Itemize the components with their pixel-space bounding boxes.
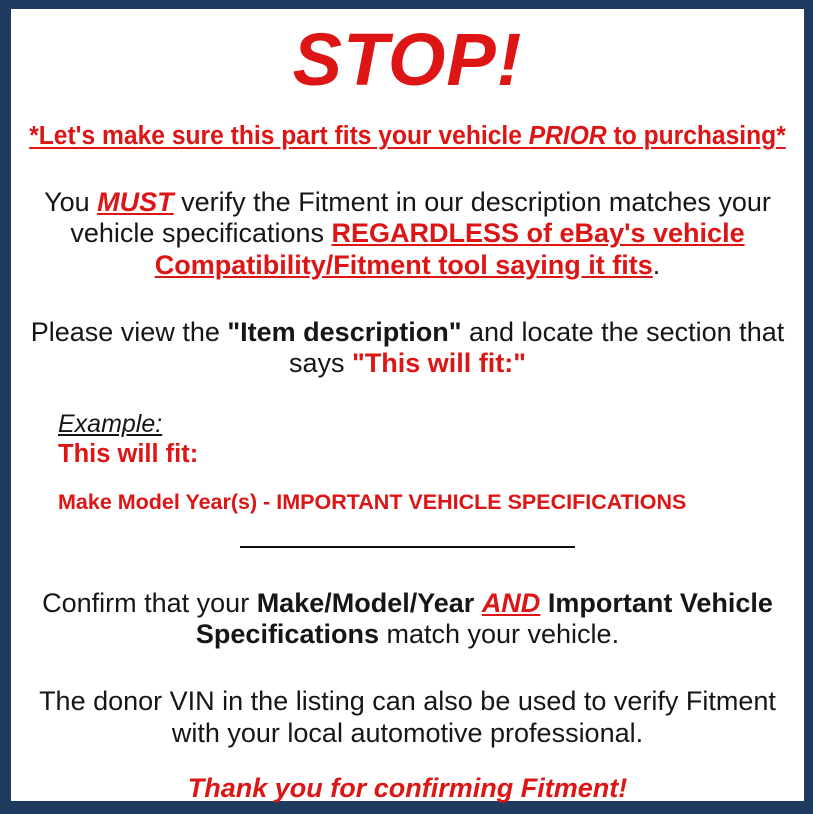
- this-will-fit-emphasis: "This will fit:": [352, 348, 526, 378]
- example-block: Example: This will fit: Make Model Year(…: [11, 380, 804, 515]
- must-text-3: .: [653, 250, 661, 280]
- item-description-emphasis: "Item description": [227, 317, 461, 347]
- item-description-paragraph: Please view the "Item description" and l…: [28, 281, 788, 380]
- donor-vin-paragraph: The donor VIN in the listing can also be…: [28, 650, 788, 749]
- and-emphasis: AND: [482, 588, 541, 618]
- example-spec-line: Make Model Year(s) - IMPORTANT VEHICLE S…: [58, 469, 804, 515]
- item-text-1: Please view the: [31, 317, 228, 347]
- subtitle-text-before: *Let's make sure this part fits your veh…: [29, 122, 529, 150]
- confirm-space-2: [540, 588, 548, 618]
- fitment-notice-border: STOP! *Let's make sure this part fits yo…: [0, 0, 813, 814]
- make-model-year-emphasis: Make/Model/Year: [257, 588, 475, 618]
- horizontal-divider: [240, 546, 575, 548]
- must-verify-paragraph: You MUST verify the Fitment in our descr…: [28, 151, 788, 281]
- confirm-text-2: match your vehicle.: [379, 619, 619, 649]
- subtitle-emphasis-prior: PRIOR: [529, 122, 607, 150]
- thank-you-line: Thank you for confirming Fitment!: [11, 749, 804, 804]
- confirm-space-1: [474, 588, 482, 618]
- example-fit-heading: This will fit:: [58, 438, 804, 469]
- confirm-paragraph: Confirm that your Make/Model/Year AND Im…: [28, 557, 788, 651]
- must-emphasis: MUST: [97, 187, 174, 217]
- must-text-1: You: [44, 187, 97, 217]
- fitment-notice-panel: STOP! *Let's make sure this part fits yo…: [11, 9, 804, 801]
- divider-wrapper: [11, 515, 804, 557]
- confirm-text-1: Confirm that your: [42, 588, 257, 618]
- subtitle-banner: *Let's make sure this part fits your veh…: [25, 97, 790, 151]
- subtitle-text-after: to purchasing*: [607, 122, 786, 150]
- stop-headline: STOP!: [11, 9, 804, 97]
- example-label: Example:: [58, 411, 804, 438]
